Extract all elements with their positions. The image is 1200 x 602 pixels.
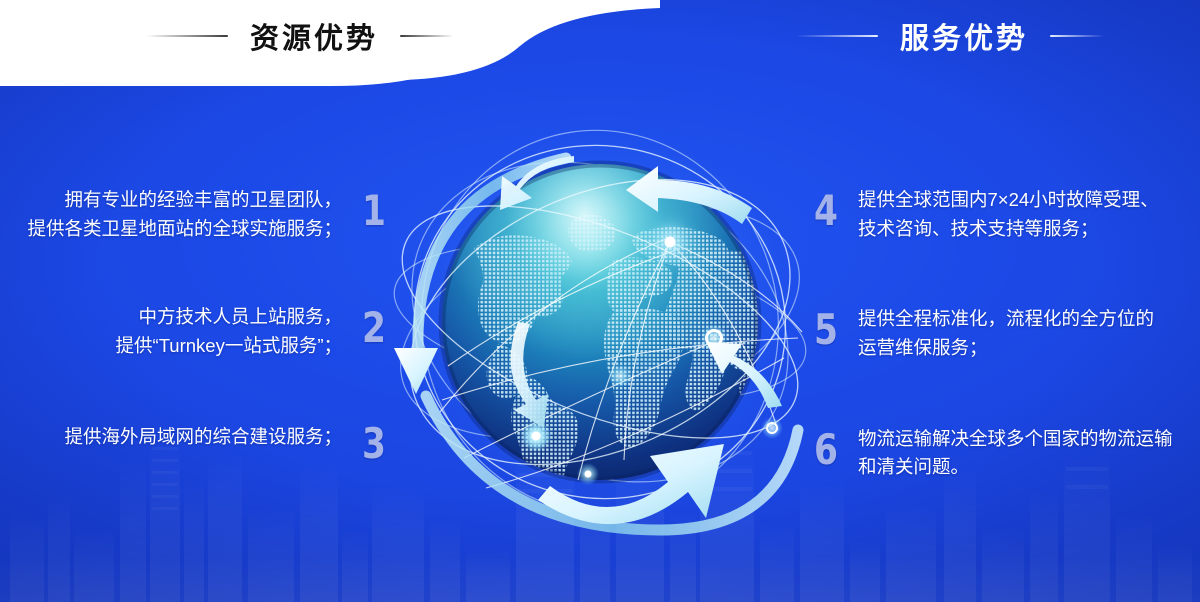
header-left: 资源优势 bbox=[80, 14, 520, 58]
advantage-list-left: 拥有专业的经验丰富的卫星团队， 提供各类卫星地面站的全球实施服务； 1 中方技术… bbox=[0, 186, 390, 519]
list-item-text: 提供全球范围内7×24小时故障受理、 技术咨询、技术支持等服务； bbox=[858, 186, 1159, 243]
slide-canvas: 资源优势 服务优势 拥有专业的经验丰富的卫星团队， 提供各类卫星地面站的全球实施… bbox=[0, 0, 1200, 602]
advantage-list-right: 4 提供全球范围内7×24小时故障受理、 技术咨询、技术支持等服务； 5 提供全… bbox=[810, 186, 1200, 536]
dotted-world-globe bbox=[378, 100, 822, 544]
header-left-rule-start bbox=[146, 35, 228, 37]
list-item-number: 3 bbox=[361, 423, 387, 465]
header-right-rule-start bbox=[796, 35, 878, 37]
list-item-text: 物流运输解决全球多个国家的物流运输 和清关问题。 bbox=[858, 425, 1173, 482]
list-item-text: 拥有专业的经验丰富的卫星团队， 提供各类卫星地面站的全球实施服务； bbox=[27, 186, 342, 243]
node-equator bbox=[608, 364, 632, 388]
list-item-text: 提供全程标准化，流程化的全方位的 运营维保服务； bbox=[858, 305, 1154, 362]
list-item-text: 提供海外局域网的综合建设服务； bbox=[64, 423, 342, 452]
list-item: 5 提供全程标准化，流程化的全方位的 运营维保服务； bbox=[810, 305, 1200, 362]
list-item: 4 提供全球范围内7×24小时故障受理、 技术咨询、技术支持等服务； bbox=[810, 186, 1200, 243]
header-left-title: 资源优势 bbox=[250, 15, 378, 57]
list-item-text: 中方技术人员上站服务， 提供“Turnkey一站式服务”； bbox=[116, 303, 342, 360]
node-hub bbox=[648, 220, 692, 264]
list-item: 6 物流运输解决全球多个国家的物流运输 和清关问题。 bbox=[810, 425, 1200, 482]
header-right: 服务优势 bbox=[700, 14, 1200, 58]
list-item-number: 2 bbox=[361, 307, 387, 349]
list-item-number: 5 bbox=[813, 309, 839, 351]
list-item: 提供海外局域网的综合建设服务； 3 bbox=[0, 421, 390, 465]
header-right-rule-end bbox=[1050, 35, 1104, 37]
list-item-number: 4 bbox=[813, 190, 839, 232]
list-item: 中方技术人员上站服务， 提供“Turnkey一站式服务”； 2 bbox=[0, 303, 390, 360]
list-item-number: 1 bbox=[361, 190, 387, 232]
list-item-number: 6 bbox=[813, 429, 839, 471]
node-south bbox=[577, 463, 599, 485]
node-west bbox=[521, 421, 551, 451]
header-left-rule-end bbox=[400, 35, 454, 37]
header-right-title: 服务优势 bbox=[900, 15, 1028, 57]
list-item: 拥有专业的经验丰富的卫星团队， 提供各类卫星地面站的全球实施服务； 1 bbox=[0, 186, 390, 243]
